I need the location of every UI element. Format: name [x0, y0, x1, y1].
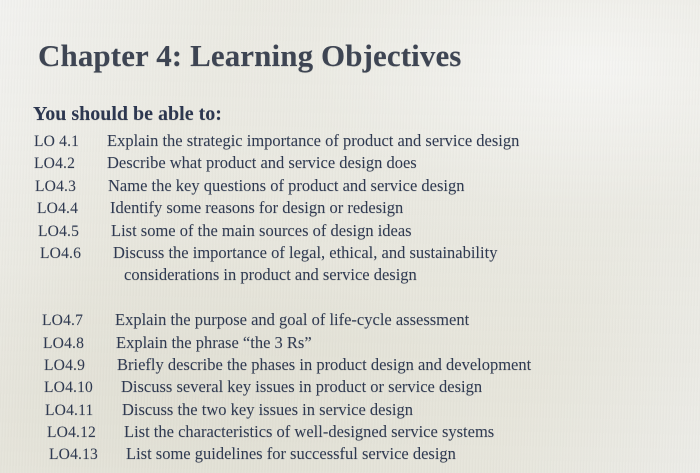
learning-objective-text: List some guidelines for successful serv…	[126, 444, 456, 464]
learning-objective-text: List some of the main sources of design …	[111, 221, 412, 241]
learning-objective-text: Name the key questions of product and se…	[108, 176, 464, 196]
learning-objective-code: LO4.10	[44, 379, 121, 397]
learning-objective-row: LO4.9Briefly describe the phases in prod…	[0, 355, 700, 377]
learning-objective-row: LO4.11Discuss the two key issues in serv…	[0, 400, 700, 422]
page-title: Chapter 4: Learning Objectives	[38, 39, 461, 72]
learning-objective-code: LO4.5	[38, 223, 111, 241]
learning-objective-text: Discuss the two key issues in service de…	[122, 400, 413, 420]
learning-objective-continuation-row: considerations in product and service de…	[0, 265, 700, 287]
learning-objective-code: LO4.7	[42, 312, 115, 330]
learning-objective-row: LO4.4Identify some reasons for design or…	[0, 198, 700, 220]
learning-objective-row: LO4.8Explain the phrase “the 3 Rs”	[0, 333, 700, 355]
learning-objective-code: LO4.4	[37, 200, 110, 218]
learning-objective-text: Briefly describe the phases in product d…	[117, 355, 531, 375]
learning-objective-code: LO4.12	[47, 424, 124, 442]
learning-objective-row: LO4.6Discuss the importance of legal, et…	[0, 243, 700, 265]
learning-objective-text: Explain the phrase “the 3 Rs”	[116, 333, 312, 353]
learning-objective-code: LO4.9	[44, 357, 117, 375]
learning-objective-text: Explain the strategic importance of prod…	[107, 131, 519, 151]
learning-objective-row: LO4.2Describe what product and service d…	[0, 153, 700, 175]
learning-objective-text: Identify some reasons for design or rede…	[110, 198, 403, 218]
learning-objective-code: LO4.11	[45, 402, 122, 420]
learning-objective-row: LO 4.1Explain the strategic importance o…	[0, 131, 700, 153]
learning-objective-row: LO4.12List the characteristics of well-d…	[0, 422, 700, 444]
learning-objective-row: LO4.3Name the key questions of product a…	[0, 176, 700, 198]
learning-objective-text: Discuss the importance of legal, ethical…	[113, 243, 497, 263]
learning-objectives-list: LO 4.1Explain the strategic importance o…	[0, 131, 700, 467]
learning-objective-code: LO4.3	[35, 178, 108, 196]
learning-objective-text: Explain the purpose and goal of life-cyc…	[115, 310, 469, 330]
learning-objective-text: Describe what product and service design…	[107, 153, 417, 173]
learning-objective-row: LO4.5List some of the main sources of de…	[0, 221, 700, 243]
learning-objective-continuation-text: considerations in product and service de…	[124, 265, 417, 287]
learning-objective-code: LO4.13	[49, 446, 126, 464]
learning-objective-code: LO4.8	[43, 335, 116, 353]
learning-objective-code: LO 4.1	[34, 133, 107, 151]
learning-objective-code: LO4.2	[34, 155, 107, 173]
objectives-subtitle: You should be able to:	[33, 103, 222, 126]
learning-objective-row: LO4.10Discuss several key issues in prod…	[0, 377, 700, 399]
textbook-page-photo: Chapter 4: Learning Objectives You shoul…	[0, 0, 700, 473]
learning-objective-row: LO4.7Explain the purpose and goal of lif…	[0, 310, 700, 332]
learning-objective-text: List the characteristics of well-designe…	[124, 422, 494, 442]
learning-objective-row: LO4.13List some guidelines for successfu…	[0, 444, 700, 466]
learning-objective-code: LO4.6	[40, 245, 113, 263]
learning-objective-text: Discuss several key issues in product or…	[121, 377, 482, 397]
